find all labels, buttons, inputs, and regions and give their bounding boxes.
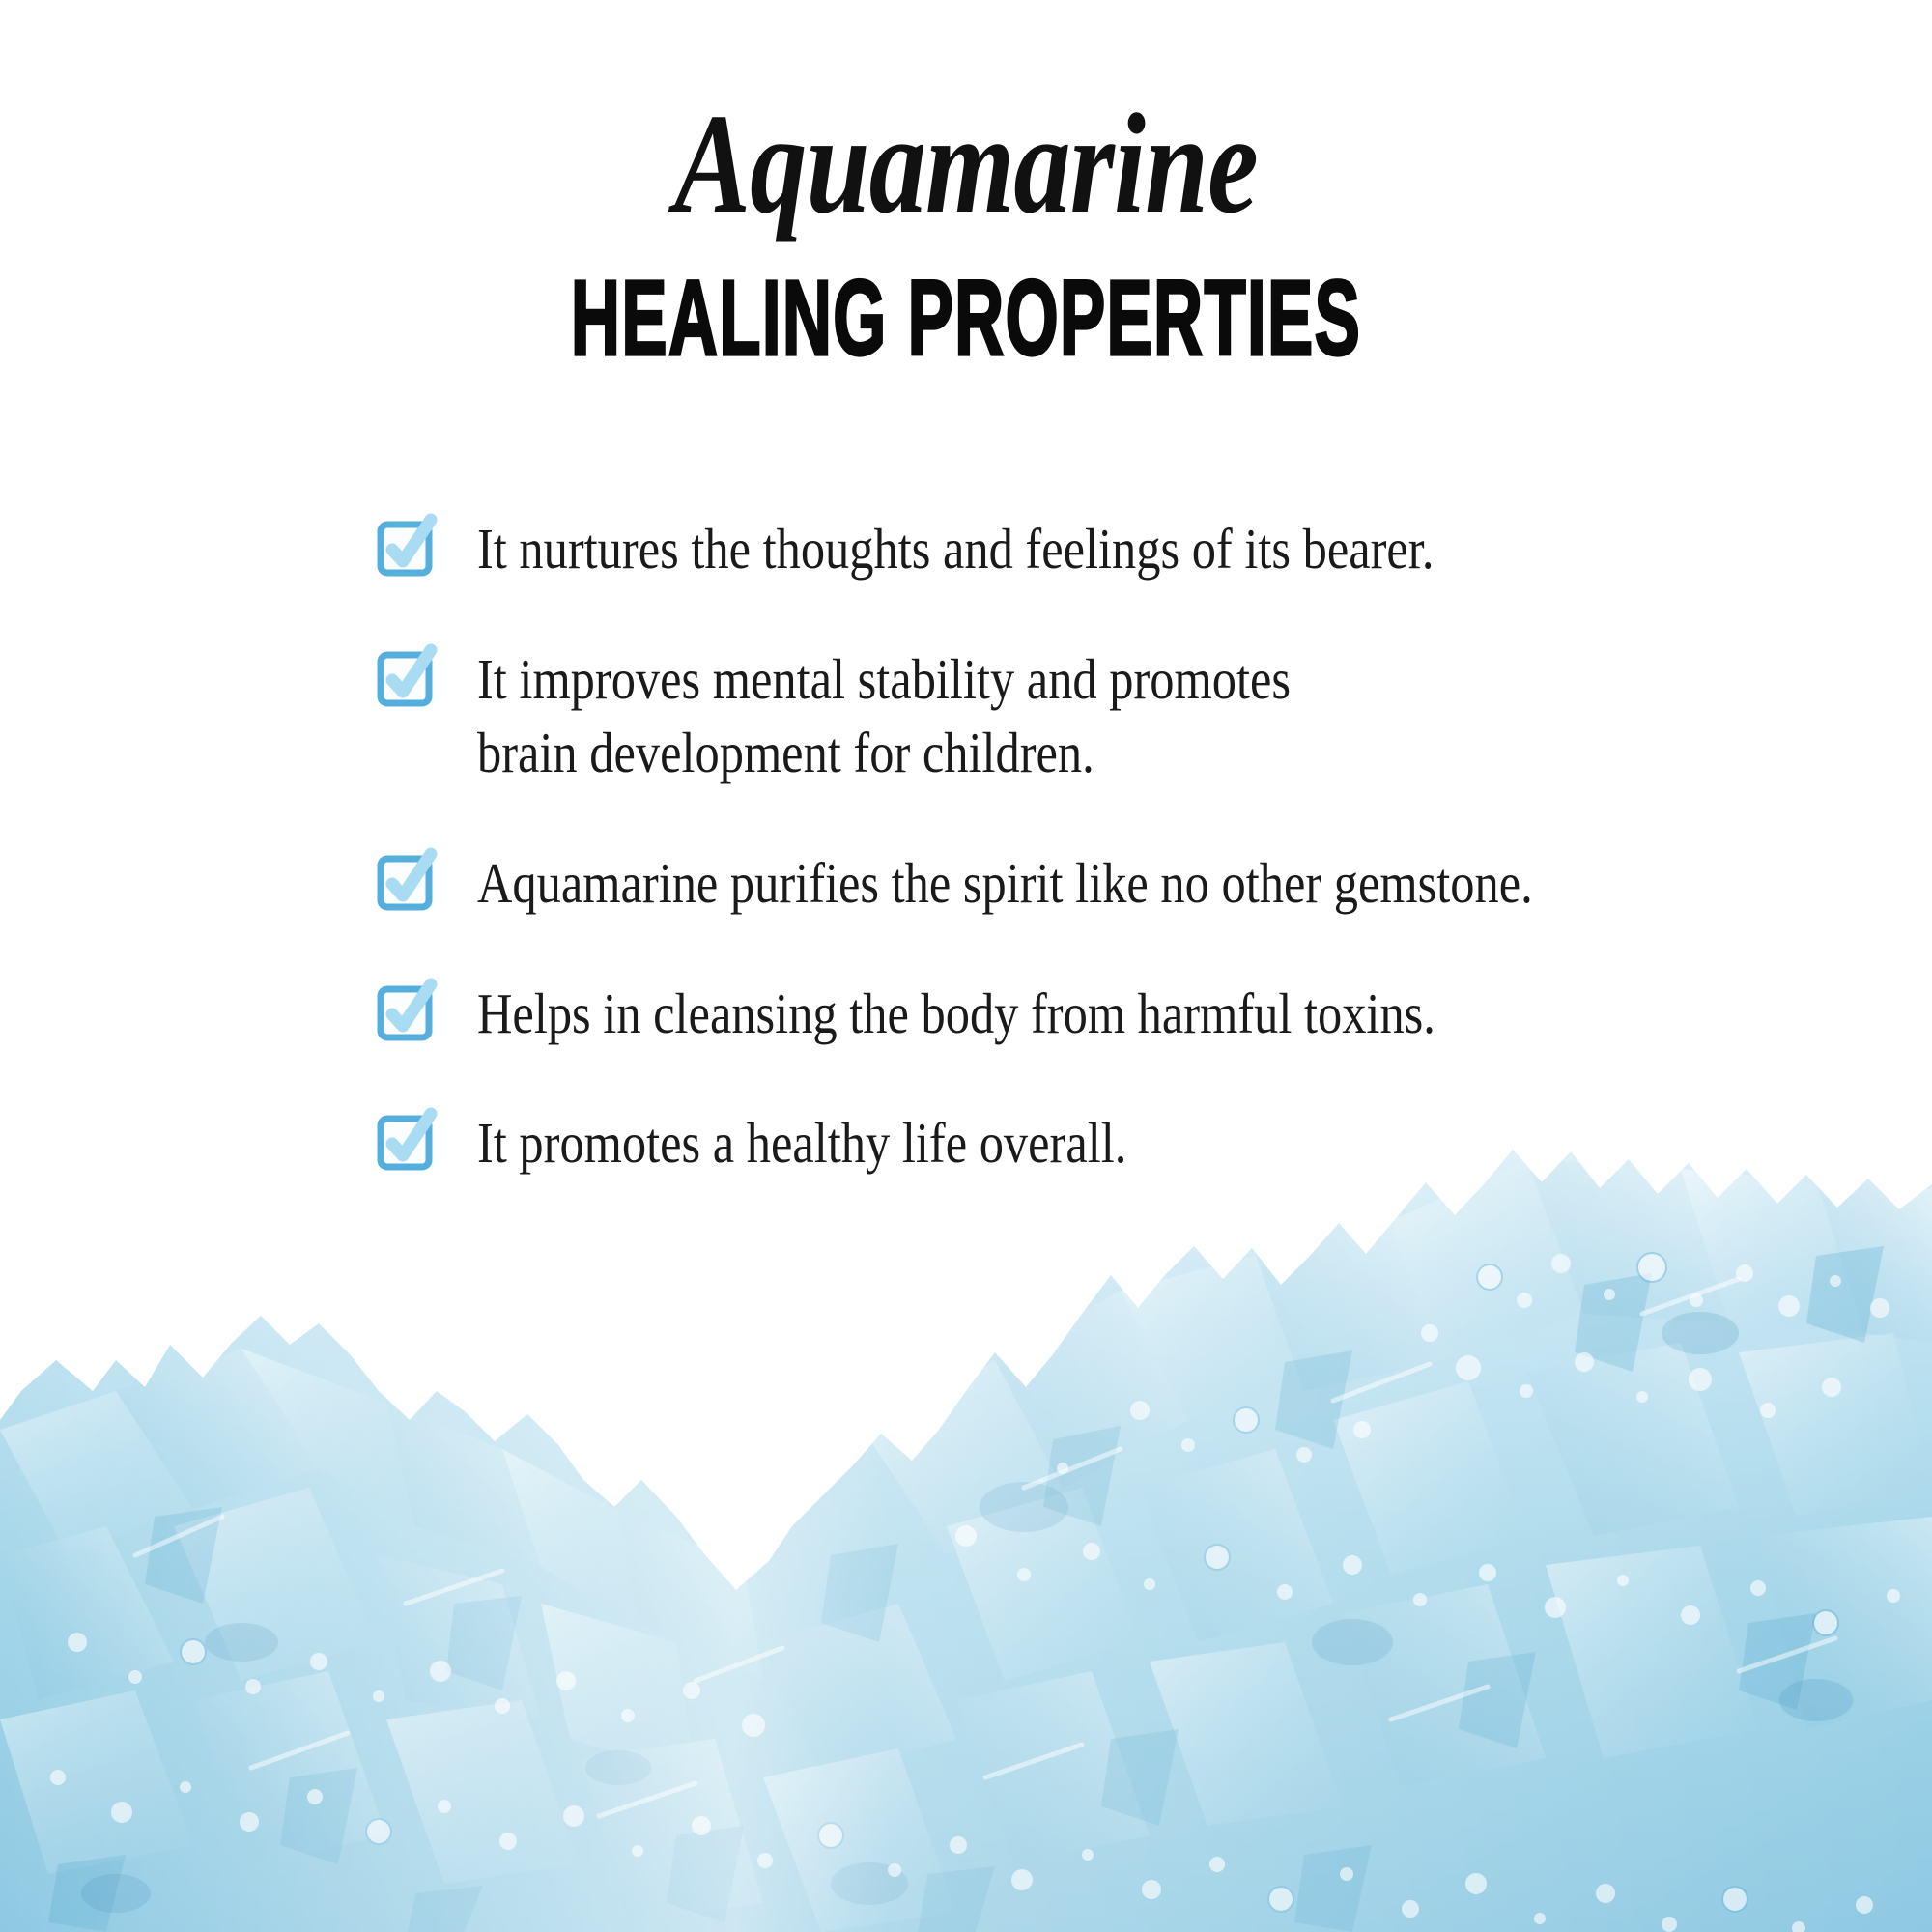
list-item-text: Aquamarine purifies the spirit like no o…: [477, 846, 1533, 921]
list-item: Helps in cleansing the body from harmful…: [377, 977, 1729, 1051]
list-item: It nurtures the thoughts and feelings of…: [377, 512, 1729, 586]
checked-checkbox-icon: [377, 852, 437, 912]
checked-checkbox-icon: [377, 982, 437, 1042]
page-title: Aquamarine: [193, 93, 1739, 236]
list-item-text: Helps in cleansing the body from harmful…: [477, 977, 1435, 1051]
checked-checkbox-icon: [377, 648, 437, 708]
poster-canvas: Aquamarine HEALING PROPERTIES It nurture…: [0, 0, 1932, 1932]
list-item: It improves mental stability and promote…: [377, 642, 1729, 790]
page-subtitle: HEALING PROPERTIES: [309, 266, 1623, 372]
list-item-text: It nurtures the thoughts and feelings of…: [477, 512, 1434, 586]
checked-checkbox-icon: [377, 518, 437, 578]
list-item: Aquamarine purifies the spirit like no o…: [377, 846, 1729, 921]
crushed-ice-photo: [0, 1101, 1932, 1932]
poster-header: Aquamarine HEALING PROPERTIES: [0, 0, 1932, 369]
list-item-text: It improves mental stability and promote…: [477, 642, 1291, 790]
